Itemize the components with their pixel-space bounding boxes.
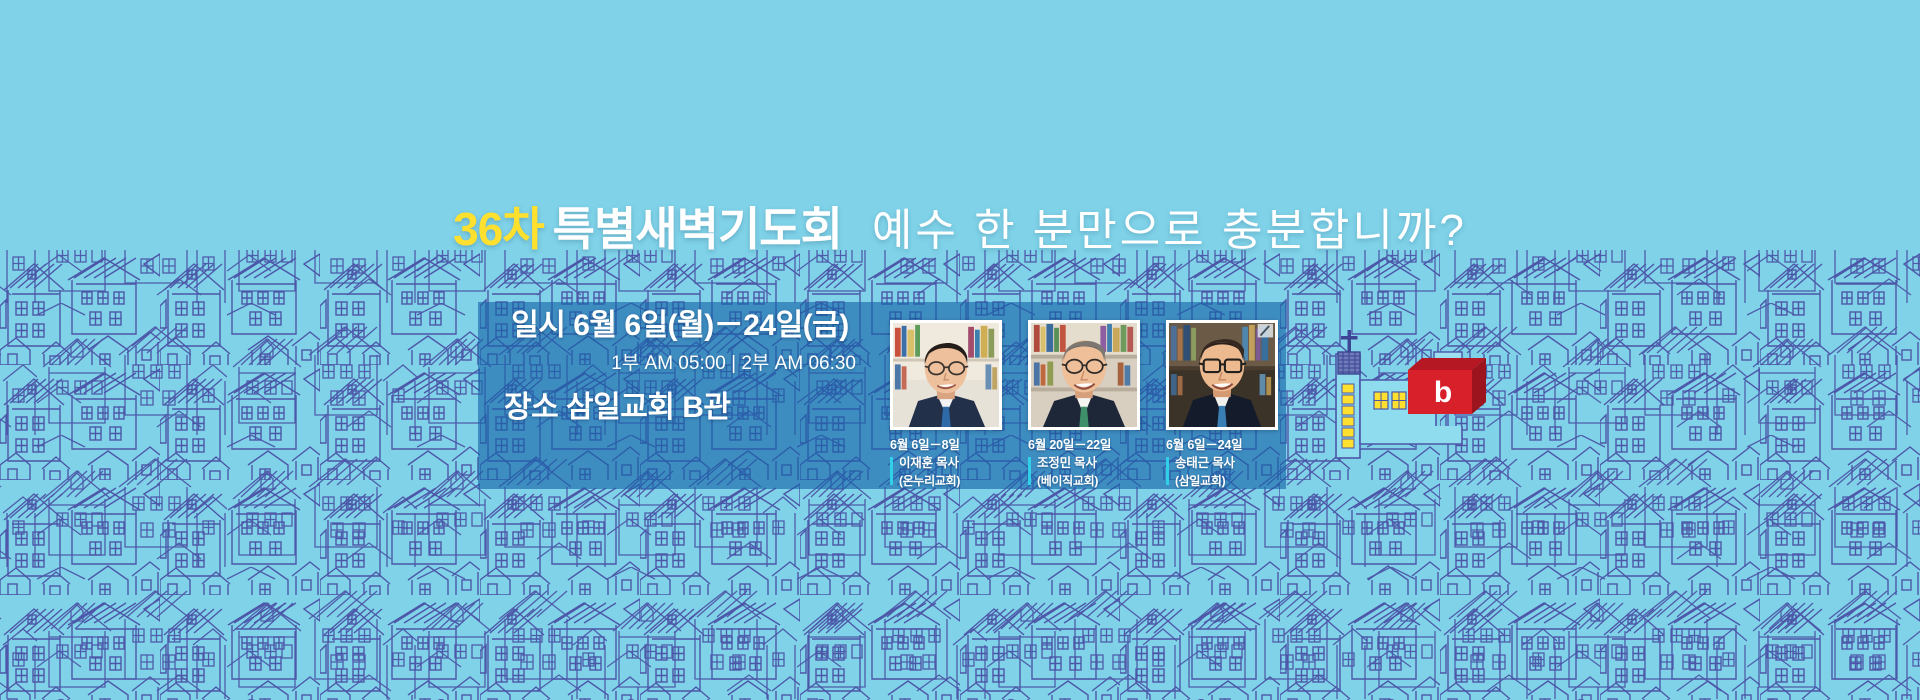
portrait-illustration (1031, 323, 1137, 427)
speaker-card: 6월 20일－22일 조정민 목사 (베이직교회) (1028, 320, 1146, 490)
accent-bar (890, 457, 893, 485)
speaker-church: (베이직교회) (1037, 474, 1098, 489)
landmark-block-letter: b (1434, 376, 1452, 409)
speaker-name: 송태근 목사 (1175, 456, 1235, 471)
speaker-name: 이재훈 목사 (899, 456, 960, 471)
speaker-list: 6월 6일－8일 이재훈 목사 (온누리교회) (890, 320, 1286, 490)
accent-bar (1166, 457, 1169, 485)
speaker-caption: 6월 6일－24일 송태근 목사 (삼일교회) (1166, 438, 1284, 488)
church-with-cross-icon: b (1312, 322, 1512, 462)
church-landmark: b (1312, 322, 1512, 462)
speaker-photo-cho-jungmin (1028, 320, 1140, 430)
speaker-caption: 6월 20일－22일 조정민 목사 (베이직교회) (1028, 438, 1146, 488)
portrait-illustration (1169, 323, 1275, 427)
speaker-caption: 6월 6일－8일 이재훈 목사 (온누리교회) (890, 438, 1008, 488)
event-place-line: 장소 삼일교회 B관 (500, 382, 860, 426)
speaker-dates: 6월 6일－8일 (890, 438, 1008, 453)
accent-bar (1028, 457, 1031, 485)
event-banner: 36차특별새벽기도회예수 한 분만으로 충분합니까? 일시 6월 6일(월)－2… (0, 0, 1920, 700)
speaker-card: 6월 6일－24일 송태근 목사 (삼일교회) (1166, 320, 1284, 490)
event-time-line: 1부 AM 05:00 | 2부 AM 06:30 (500, 348, 860, 375)
portrait-illustration (893, 323, 999, 427)
speaker-church: (삼일교회) (1175, 474, 1235, 489)
speaker-card: 6월 6일－8일 이재훈 목사 (온누리교회) (890, 320, 1008, 490)
speaker-photo-song-taegeun (1166, 320, 1278, 430)
speaker-name: 조정민 목사 (1037, 456, 1098, 471)
speaker-dates: 6월 20일－22일 (1028, 438, 1146, 453)
speaker-dates: 6월 6일－24일 (1166, 438, 1284, 453)
sky-background (0, 0, 1920, 262)
speaker-church: (온누리교회) (899, 474, 960, 489)
speaker-photo-lee-jaehoon (890, 320, 1002, 430)
event-date-line: 일시 6월 6일(월)－24일(금) (500, 310, 860, 342)
event-details: 일시 6월 6일(월)－24일(금) 1부 AM 05:00 | 2부 AM 0… (500, 310, 860, 426)
